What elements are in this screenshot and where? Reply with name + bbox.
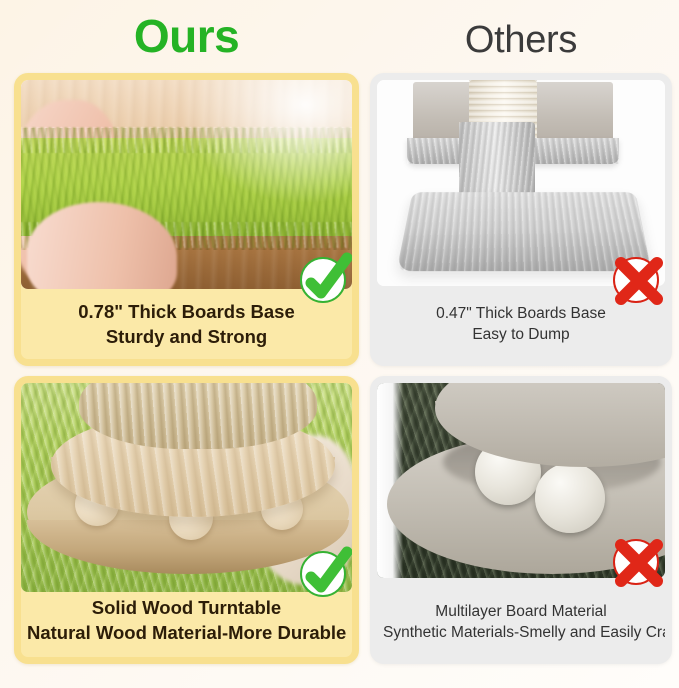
check-badge-icon — [300, 551, 346, 597]
comparison-card-others-thickness: 0.47" Thick Boards Base Easy to Dump — [370, 73, 672, 366]
cross-badge-icon — [613, 539, 659, 585]
comparison-card-ours-thickness: 0.78" Thick Boards Base Sturdy and Stron… — [14, 73, 359, 366]
caption-line-1: Multilayer Board Material — [383, 601, 659, 622]
comparison-card-others-turntable: Multilayer Board Material Synthetic Mate… — [370, 376, 672, 664]
caption-others-turntable: Multilayer Board Material Synthetic Mate… — [377, 601, 665, 643]
cross-badge-icon — [613, 257, 659, 303]
comparison-card-ours-turntable: Solid Wood Turntable Natural Wood Materi… — [14, 376, 359, 664]
column-title-ours: Ours — [14, 8, 359, 64]
caption-line-2: Synthetic Materials-Smelly and Easily Cr… — [383, 622, 659, 643]
caption-line-2: Sturdy and Strong — [27, 324, 346, 349]
caption-line-2: Natural Wood Material-More Durable — [27, 620, 346, 645]
column-title-others: Others — [370, 16, 672, 64]
check-badge-icon — [300, 257, 346, 303]
comparison-header: Ours Others — [0, 0, 679, 72]
caption-line-2: Easy to Dump — [383, 324, 659, 345]
